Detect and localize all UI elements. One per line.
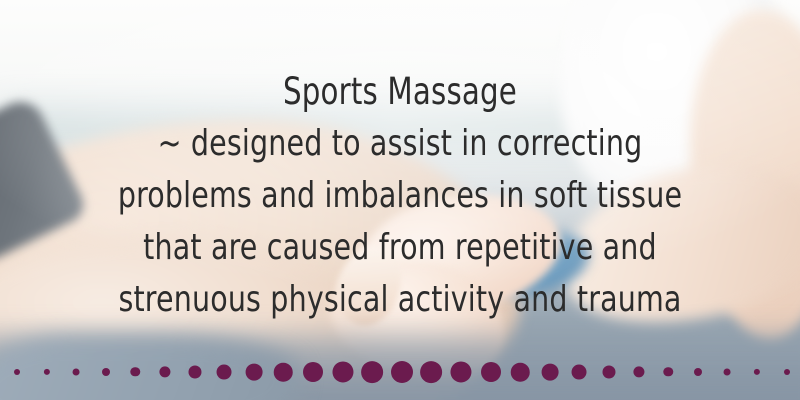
- photo-towel-sheet-left: [0, 336, 300, 400]
- caption-line-1: ~ designed to assist in correcting: [48, 118, 752, 170]
- massage-promo-banner: Sports Massage ~ designed to assist in c…: [0, 0, 800, 400]
- caption-line-4: strenuous physical activity and trauma: [48, 274, 752, 326]
- caption-line-2: problems and imbalances in soft tissue: [48, 170, 752, 222]
- caption-line-3: that are caused from repetitive and: [48, 222, 752, 274]
- caption-block: Sports Massage ~ designed to assist in c…: [0, 66, 800, 326]
- caption-line-title: Sports Massage: [48, 66, 752, 118]
